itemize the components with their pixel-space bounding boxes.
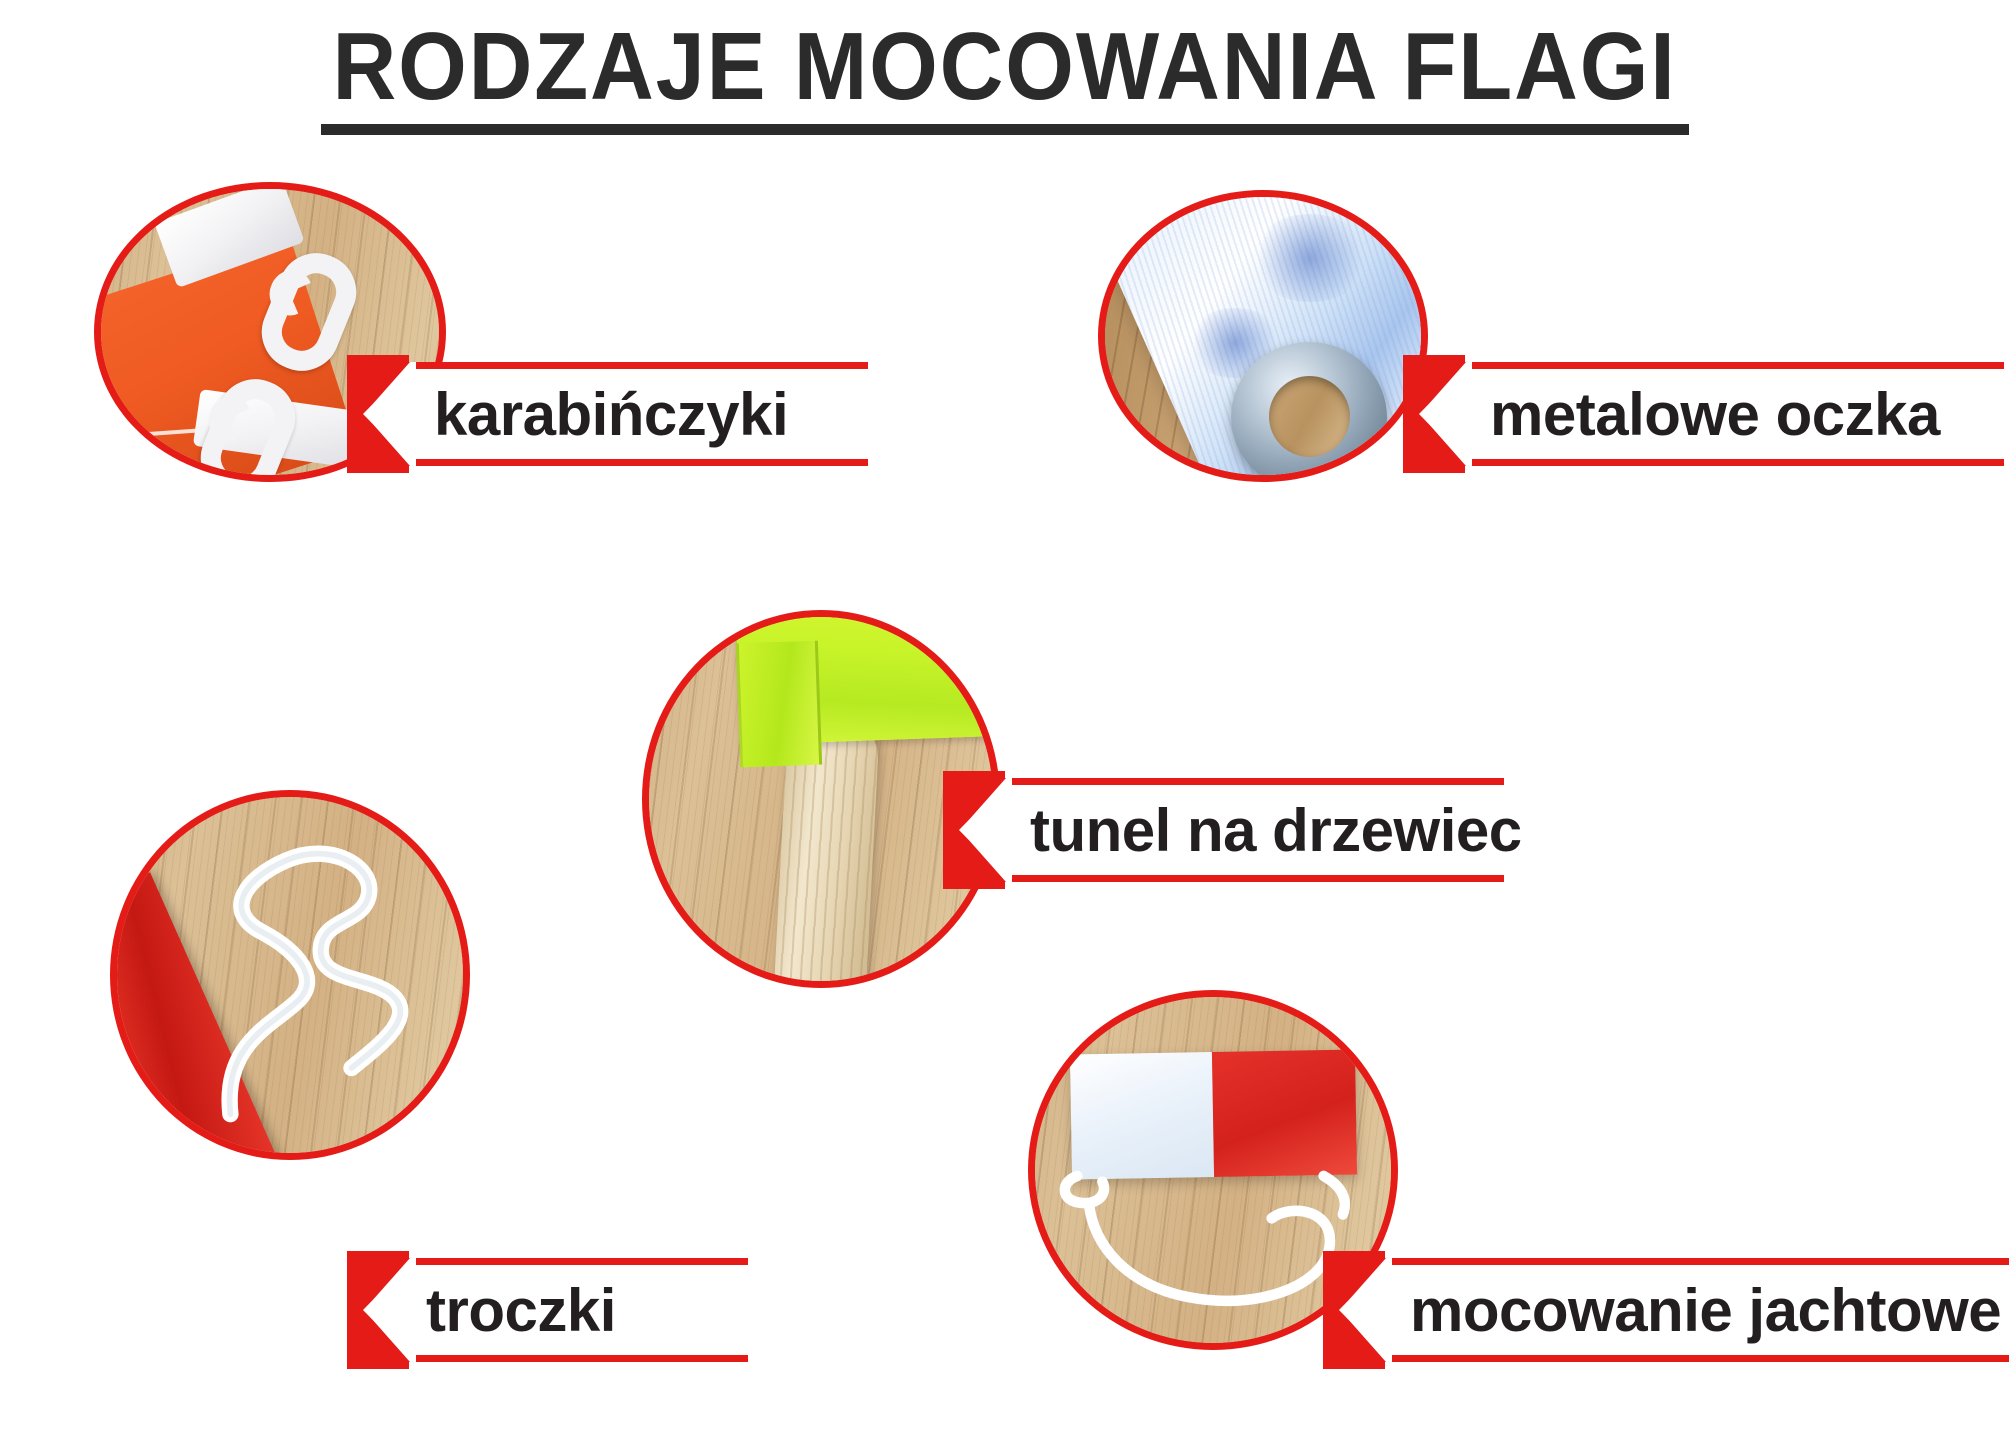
photo-inner-troczki — [117, 797, 463, 1153]
callout-label-troczki: troczki — [426, 1276, 616, 1345]
cord-tie-icon — [117, 797, 463, 1153]
callout-troczki: troczki — [348, 1258, 748, 1362]
infographic-poster: RODZAJE MOCOWANIA FLAGI karabińczyki — [0, 0, 2009, 1431]
callout-label-tunel: tunel na drzewiec — [1030, 796, 1522, 865]
photo-troczki — [110, 790, 470, 1160]
poster-title-block: RODZAJE MOCOWANIA FLAGI — [0, 18, 2009, 135]
callout-label-jachtowe: mocowanie jachtowe — [1410, 1276, 2001, 1345]
callout-metalowe-oczka: metalowe oczka — [1404, 362, 2004, 466]
callout-label-karabinczyki: karabińczyki — [434, 380, 788, 449]
title-underline — [321, 124, 1689, 135]
photo-inner-tunel — [649, 617, 993, 981]
callout-karabinczyki: karabińczyki — [348, 362, 868, 466]
photo-inner-metalowe-oczka — [1105, 197, 1421, 475]
page-title: RODZAJE MOCOWANIA FLAGI — [332, 18, 1676, 116]
callout-mocowanie-jachtowe: mocowanie jachtowe — [1324, 1258, 2009, 1362]
flag-pole-sleeve — [736, 641, 822, 768]
callout-label-metalowe-oczka: metalowe oczka — [1490, 380, 1940, 449]
callout-tunel-na-drzewiec: tunel na drzewiec — [944, 778, 1504, 882]
photo-metalowe-oczka — [1098, 190, 1428, 482]
flag-print-smudge — [1250, 214, 1370, 302]
